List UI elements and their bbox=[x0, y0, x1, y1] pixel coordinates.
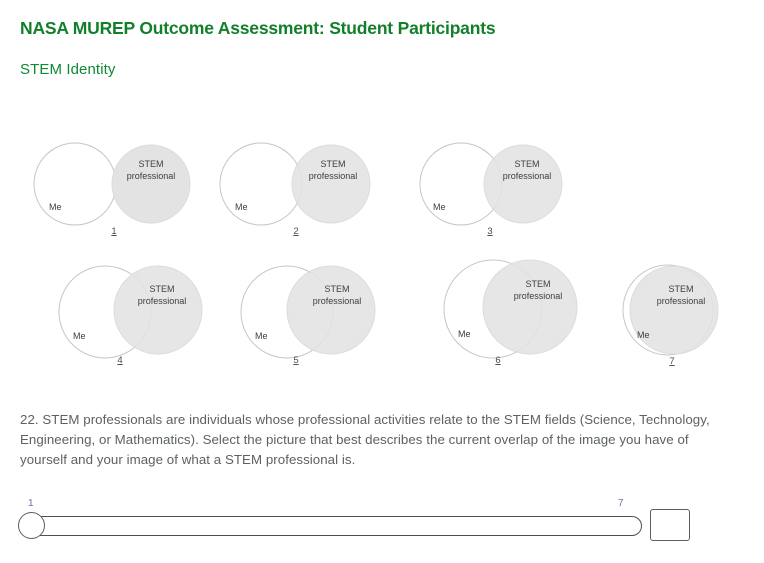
slider-max-label: 7 bbox=[618, 498, 624, 509]
stem-label-line1: STEM bbox=[324, 284, 349, 294]
stem-label-line2: professional bbox=[657, 296, 706, 306]
me-label: Me bbox=[255, 331, 268, 341]
venn-option-number-5[interactable]: 5 bbox=[288, 355, 304, 366]
venn-option-2[interactable]: STEM professional Me 2 bbox=[221, 142, 379, 226]
stem-label-line2: professional bbox=[127, 171, 176, 181]
venn-option-number-6[interactable]: 6 bbox=[490, 355, 506, 366]
stem-label-line1: STEM bbox=[149, 284, 174, 294]
slider-handle[interactable] bbox=[18, 512, 45, 539]
me-label: Me bbox=[235, 202, 248, 212]
stem-label-line2: professional bbox=[313, 296, 362, 306]
venn-option-3[interactable]: STEM professional Me 3 bbox=[419, 142, 571, 226]
me-label: Me bbox=[637, 330, 650, 340]
venn-option-number-2[interactable]: 2 bbox=[288, 226, 304, 237]
section-title: STEM Identity bbox=[20, 61, 116, 78]
stem-label-line1: STEM bbox=[668, 284, 693, 294]
slider-min-label: 1 bbox=[28, 498, 34, 509]
stem-label-line2: professional bbox=[309, 171, 358, 181]
venn-option-1[interactable]: STEM professional Me 1 bbox=[33, 142, 195, 226]
rating-slider[interactable]: 1 7 bbox=[16, 498, 748, 548]
me-circle bbox=[220, 143, 302, 225]
stem-label-line1: STEM bbox=[514, 159, 539, 169]
slider-track[interactable] bbox=[30, 516, 642, 536]
me-label: Me bbox=[458, 329, 471, 339]
venn-option-number-7[interactable]: 7 bbox=[664, 356, 680, 367]
stem-circle bbox=[484, 145, 562, 223]
stem-circle bbox=[112, 145, 190, 223]
venn-option-5[interactable]: STEM professional Me 5 bbox=[240, 265, 388, 359]
me-circle bbox=[34, 143, 116, 225]
stem-label-line1: STEM bbox=[525, 279, 550, 289]
stem-label-line1: STEM bbox=[138, 159, 163, 169]
page-title: NASA MUREP Outcome Assessment: Student P… bbox=[20, 18, 495, 39]
stem-label-line1: STEM bbox=[320, 159, 345, 169]
stem-circle bbox=[630, 266, 718, 354]
stem-label-line2: professional bbox=[138, 296, 187, 306]
venn-option-7[interactable]: STEM professional Me 7 bbox=[624, 264, 724, 360]
me-label: Me bbox=[433, 202, 446, 212]
stem-label-line2: professional bbox=[503, 171, 552, 181]
venn-option-number-4[interactable]: 4 bbox=[112, 355, 128, 366]
stem-label-line2: professional bbox=[514, 291, 563, 301]
venn-option-4[interactable]: STEM professional Me 4 bbox=[58, 265, 206, 359]
venn-option-number-3[interactable]: 3 bbox=[482, 226, 498, 237]
venn-option-6[interactable]: STEM professional Me 6 bbox=[443, 259, 583, 359]
stem-circle bbox=[292, 145, 370, 223]
question-text: 22. STEM professionals are individuals w… bbox=[20, 410, 736, 470]
venn-options-group: STEM professional Me 1 STEM professional… bbox=[0, 0, 764, 563]
slider-value-input[interactable] bbox=[650, 509, 690, 541]
stem-circle bbox=[483, 260, 577, 354]
me-label: Me bbox=[49, 202, 62, 212]
me-label: Me bbox=[73, 331, 86, 341]
stem-circle bbox=[287, 266, 375, 354]
venn-option-number-1[interactable]: 1 bbox=[106, 226, 122, 237]
stem-circle bbox=[114, 266, 202, 354]
